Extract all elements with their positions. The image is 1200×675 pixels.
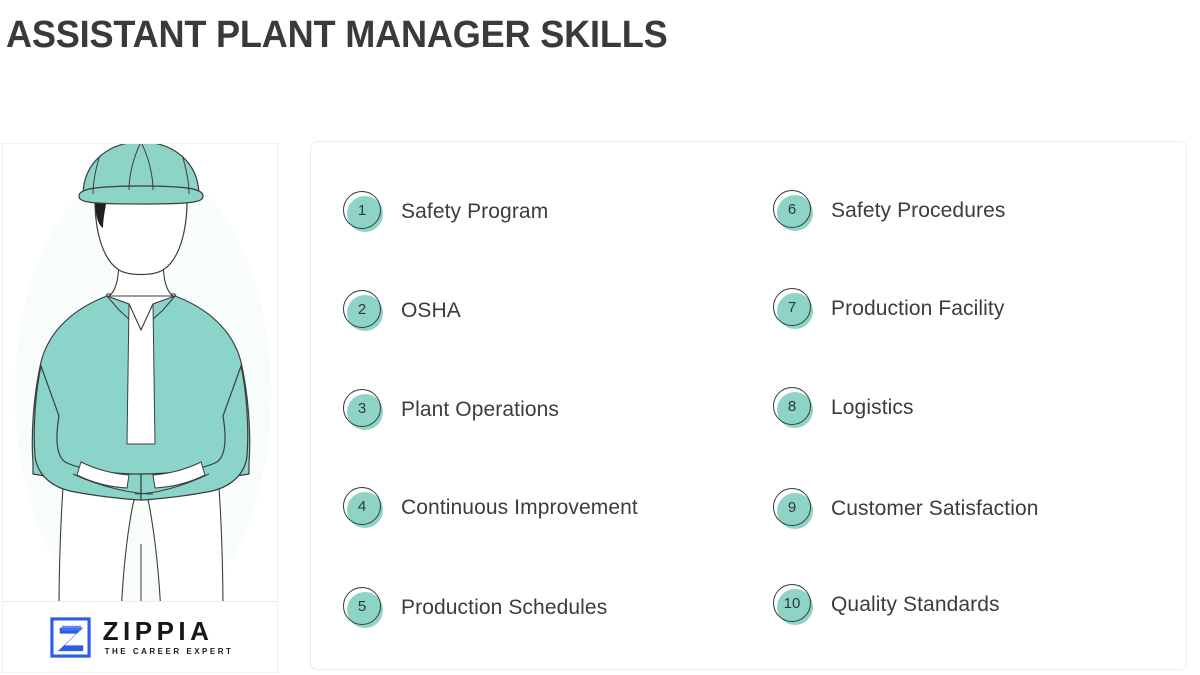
zippia-logo-icon [49,616,92,659]
skills-panel: 1 Safety Program 2 OSHA 3 Plant Operatio… [310,141,1187,670]
brand-tagline: THE CAREER EXPERT [105,647,234,656]
skill-number: 6 [773,190,811,228]
worker-illustration [3,144,278,614]
skill-label: Production Facility [831,297,1004,321]
skill-label: Continuous Improvement [401,496,638,520]
skill-item: 3 Plant Operations [341,388,559,432]
brand-wordmark: ZIPPIA [103,618,214,644]
skill-number-badge: 5 [341,586,385,630]
skill-number: 8 [773,387,811,425]
skill-item: 6 Safety Procedures [771,189,1005,233]
skill-item: 9 Customer Satisfaction [771,487,1039,531]
skill-item: 2 OSHA [341,289,461,333]
skill-item: 8 Logistics [771,386,914,430]
skill-item: 1 Safety Program [341,190,548,234]
skill-number-badge: 9 [771,487,815,531]
skill-number: 5 [343,587,381,625]
skill-label: Customer Satisfaction [831,497,1039,521]
skill-number: 7 [773,288,811,326]
skill-number: 1 [343,191,381,229]
page-title: ASSISTANT PLANT MANAGER SKILLS [6,14,667,57]
skill-number: 9 [773,488,811,526]
skill-number-badge: 6 [771,189,815,233]
skill-number-badge: 4 [341,486,385,530]
skill-number-badge: 2 [341,289,385,333]
brand-footer: ZIPPIA THE CAREER EXPERT [3,601,278,672]
skill-item: 10 Quality Standards [771,583,1000,627]
skill-number-badge: 3 [341,388,385,432]
skill-number: 10 [773,584,811,622]
skill-number-badge: 8 [771,386,815,430]
skill-label: OSHA [401,299,461,323]
skill-item: 4 Continuous Improvement [341,486,638,530]
skill-number-badge: 7 [771,287,815,331]
skill-number: 2 [343,290,381,328]
skill-item: 7 Production Facility [771,287,1004,331]
illustration-panel: ZIPPIA THE CAREER EXPERT [2,143,278,673]
skill-label: Production Schedules [401,596,607,620]
skill-number: 4 [343,487,381,525]
skill-label: Safety Program [401,200,548,224]
skill-number-badge: 1 [341,190,385,234]
skill-label: Safety Procedures [831,199,1005,223]
skill-label: Plant Operations [401,398,559,422]
skill-item: 5 Production Schedules [341,586,607,630]
skill-number-badge: 10 [771,583,815,627]
skill-label: Quality Standards [831,593,1000,617]
skill-number: 3 [343,389,381,427]
skill-label: Logistics [831,396,914,420]
brand-text: ZIPPIA THE CAREER EXPERT [103,618,234,656]
